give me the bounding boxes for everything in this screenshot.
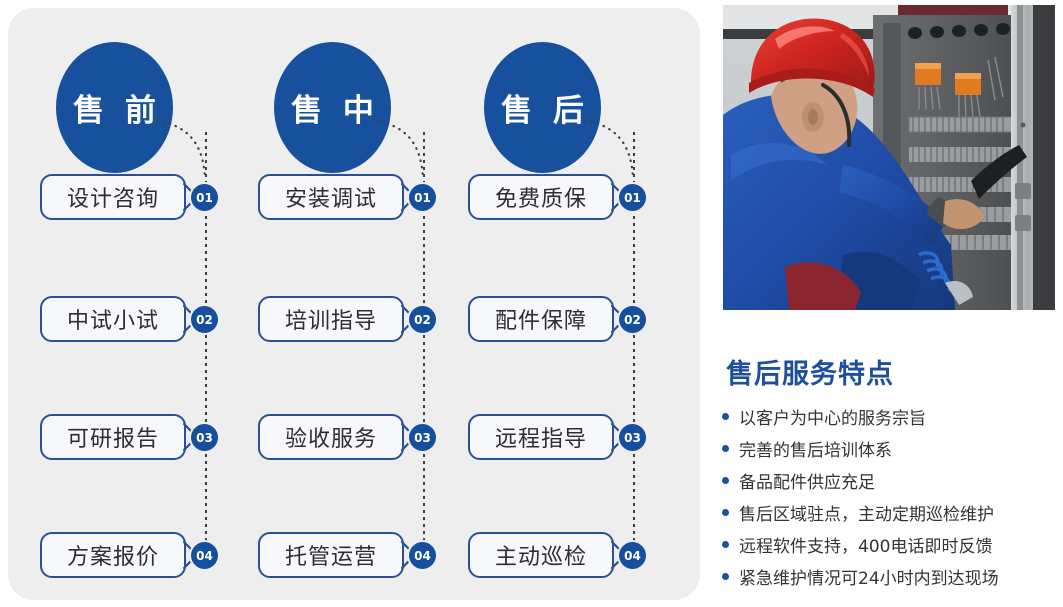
step-number: 04 [414, 549, 431, 563]
stage-label: 售 后 [496, 85, 589, 130]
step-pill[interactable]: 免费质保 [468, 174, 614, 220]
step-item[interactable]: 主动巡检 04 [463, 532, 678, 578]
step-number: 02 [414, 313, 431, 327]
step-number: 01 [196, 191, 213, 205]
list-item-label: 售后区域驻点，主动定期巡检维护 [739, 500, 994, 525]
bullet-dot-icon [722, 509, 729, 516]
list-item: 售后区域驻点，主动定期巡检维护 [722, 496, 1060, 528]
step-pill[interactable]: 设计咨询 [40, 174, 186, 220]
step-number: 04 [624, 549, 641, 563]
step-pill[interactable]: 可研报告 [40, 414, 186, 460]
stage-label: 售 中 [286, 85, 379, 130]
stage-badge-presale: 售 前 [56, 42, 173, 173]
service-flow-panel: 售 前 设计咨询 01 中试小试 [8, 8, 700, 600]
list-item-label: 完善的售后培训体系 [739, 436, 892, 461]
step-label: 中试小试 [67, 303, 159, 335]
step-label: 托管运营 [285, 539, 377, 571]
step-number-badge: 01 [409, 184, 436, 211]
step-number-badge: 03 [619, 424, 646, 451]
bullet-dot-icon [722, 413, 729, 420]
stage-label: 售 前 [68, 85, 161, 130]
step-number: 04 [196, 549, 213, 563]
list-item: 以客户为中心的服务宗旨 [722, 400, 1060, 432]
step-label: 免费质保 [495, 181, 587, 213]
step-number: 01 [624, 191, 641, 205]
list-item-label: 远程软件支持，400电话即时反馈 [739, 532, 992, 557]
list-item: 完善的售后培训体系 [722, 432, 1060, 464]
list-item-label: 以客户为中心的服务宗旨 [739, 404, 926, 429]
step-number-badge: 02 [409, 306, 436, 333]
step-number-badge: 01 [619, 184, 646, 211]
step-item[interactable]: 免费质保 01 [463, 174, 678, 220]
list-item: 备品配件供应充足 [722, 464, 1060, 496]
feature-list: 以客户为中心的服务宗旨 完善的售后培训体系 备品配件供应充足 售后区域驻点，主动… [722, 400, 1060, 592]
step-item[interactable]: 验收服务 03 [253, 414, 468, 460]
step-item[interactable]: 托管运营 04 [253, 532, 468, 578]
step-label: 远程指导 [495, 421, 587, 453]
step-item[interactable]: 培训指导 02 [253, 296, 468, 342]
step-item[interactable]: 配件保障 02 [463, 296, 678, 342]
step-pill[interactable]: 安装调试 [258, 174, 404, 220]
bullet-dot-icon [722, 477, 729, 484]
step-item[interactable]: 安装调试 01 [253, 174, 468, 220]
step-number: 01 [414, 191, 431, 205]
step-pill[interactable]: 方案报价 [40, 532, 186, 578]
step-label: 验收服务 [285, 421, 377, 453]
step-pill[interactable]: 主动巡检 [468, 532, 614, 578]
step-label: 安装调试 [285, 181, 377, 213]
step-label: 设计咨询 [67, 181, 159, 213]
step-pill[interactable]: 验收服务 [258, 414, 404, 460]
list-item-label: 紧急维护情况可24小时内到达现场 [739, 564, 999, 589]
step-number-badge: 04 [191, 542, 218, 569]
step-number-badge: 03 [191, 424, 218, 451]
list-item-label: 备品配件供应充足 [739, 468, 875, 493]
step-number: 02 [624, 313, 641, 327]
step-pill[interactable]: 培训指导 [258, 296, 404, 342]
step-number-badge: 01 [191, 184, 218, 211]
stage-column-presale: 售 前 设计咨询 01 中试小试 [35, 8, 250, 600]
step-number-badge: 02 [619, 306, 646, 333]
step-number: 03 [414, 431, 431, 445]
bullet-dot-icon [722, 445, 729, 452]
step-item[interactable]: 中试小试 02 [35, 296, 250, 342]
step-label: 可研报告 [67, 421, 159, 453]
step-number-badge: 04 [409, 542, 436, 569]
stage-badge-insale: 售 中 [274, 42, 391, 173]
step-number: 03 [196, 431, 213, 445]
step-pill[interactable]: 中试小试 [40, 296, 186, 342]
list-item: 远程软件支持，400电话即时反馈 [722, 528, 1060, 560]
step-item[interactable]: 可研报告 03 [35, 414, 250, 460]
step-item[interactable]: 方案报价 04 [35, 532, 250, 578]
stage-badge-aftersale: 售 后 [484, 42, 601, 173]
technician-electrical-cabinet-photo [723, 5, 1055, 310]
step-number: 03 [624, 431, 641, 445]
step-label: 主动巡检 [495, 539, 587, 571]
page-title: 售后服务特点 [726, 352, 894, 391]
bullet-dot-icon [722, 541, 729, 548]
stage-column-insale: 售 中 安装调试 01 培训指导 [253, 8, 468, 600]
step-pill[interactable]: 配件保障 [468, 296, 614, 342]
step-label: 配件保障 [495, 303, 587, 335]
stage-column-aftersale: 售 后 免费质保 01 配件保障 [463, 8, 678, 600]
page-root: 售 前 设计咨询 01 中试小试 [0, 0, 1063, 607]
step-number-badge: 03 [409, 424, 436, 451]
step-label: 方案报价 [67, 539, 159, 571]
step-number: 02 [196, 313, 213, 327]
step-label: 培训指导 [285, 303, 377, 335]
step-item[interactable]: 设计咨询 01 [35, 174, 250, 220]
step-number-badge: 02 [191, 306, 218, 333]
step-pill[interactable]: 远程指导 [468, 414, 614, 460]
bullet-dot-icon [722, 573, 729, 580]
step-item[interactable]: 远程指导 03 [463, 414, 678, 460]
step-pill[interactable]: 托管运营 [258, 532, 404, 578]
step-number-badge: 04 [619, 542, 646, 569]
list-item: 紧急维护情况可24小时内到达现场 [722, 560, 1060, 592]
